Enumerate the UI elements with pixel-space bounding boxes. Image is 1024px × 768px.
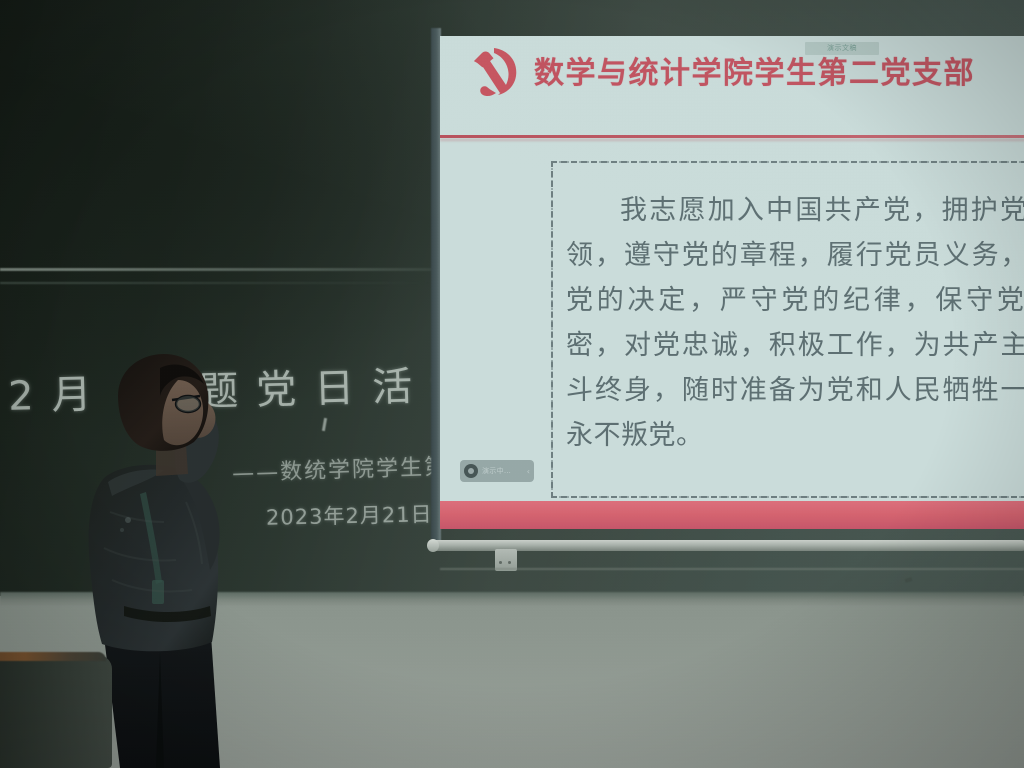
mini-toolbar-label: 演示中… <box>482 466 523 476</box>
chalk-date: 2023年2月21日 <box>266 498 433 531</box>
classroom-photo-scene: 2月 主题党日活动 ——数统学院学生第二党支 2023年2月21日 演示文稿 <box>0 0 1024 768</box>
lectern <box>0 655 112 768</box>
wall-seam-line <box>440 568 1024 570</box>
title-divider-glow <box>440 139 1024 141</box>
slide-footer-band <box>440 501 1024 529</box>
blackboard-rail-lower <box>0 282 430 284</box>
screen-roller-end-cap <box>427 539 439 552</box>
projection-screen: 演示文稿 数学与统计学院学生第二党支部 <box>431 28 1024 548</box>
cpc-hammer-sickle-emblem <box>468 44 522 100</box>
presentation-slide[interactable]: 演示文稿 数学与统计学院学生第二党支部 <box>440 36 1024 529</box>
party-oath-text: 我志愿加入中国共产党，拥护党的纲领，遵守党的章程，履行党员义务，执行党的决定，严… <box>566 188 1024 458</box>
chevron-left-icon[interactable]: ‹ <box>527 467 530 476</box>
blackboard-rail-upper <box>0 268 440 271</box>
presentation-mini-toolbar[interactable]: 演示中… ‹ <box>460 460 534 482</box>
user-circle-icon[interactable] <box>464 464 478 478</box>
slide-title: 数学与统计学院学生第二党支部 <box>534 48 975 92</box>
screen-roller-bar <box>431 540 1024 551</box>
lectern-top-edge <box>0 652 106 661</box>
title-divider-rule <box>440 135 1024 138</box>
